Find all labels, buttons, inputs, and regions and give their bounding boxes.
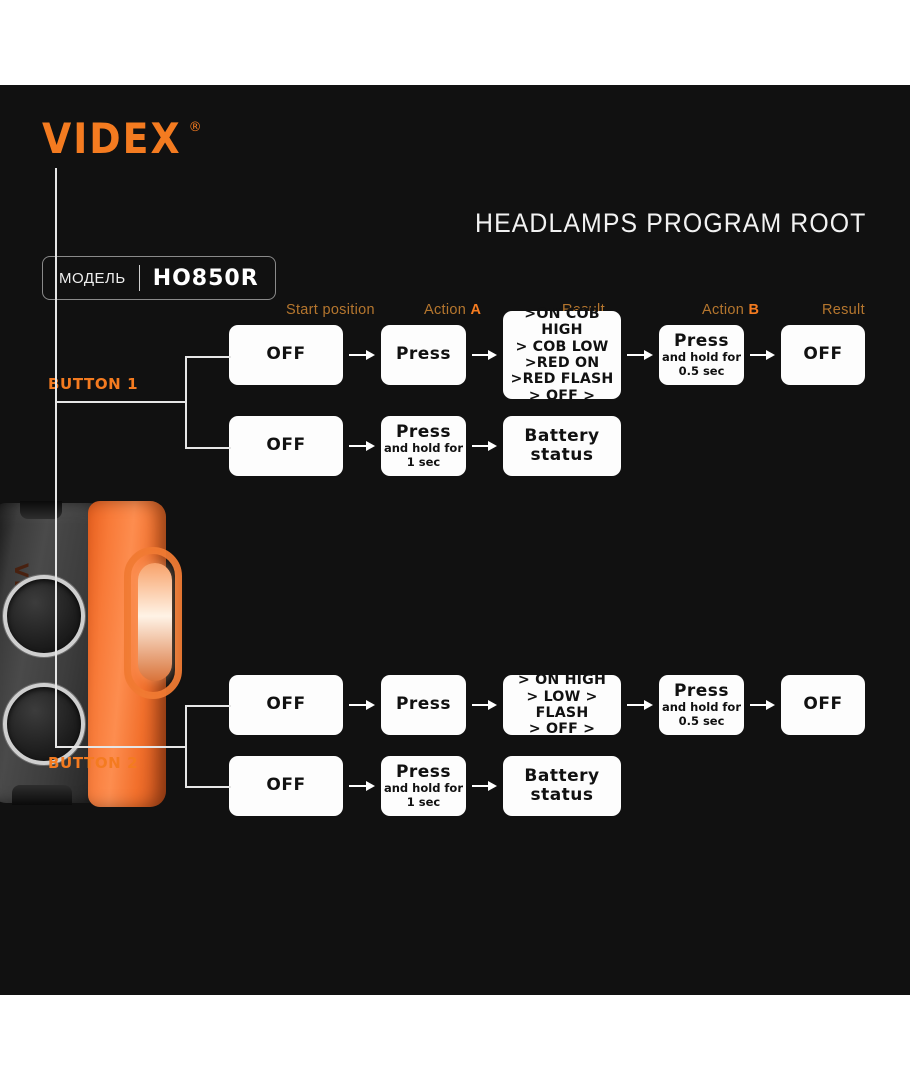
arrow-shaft — [750, 354, 767, 356]
bracket-spine-0 — [185, 356, 187, 447]
flow-arrow — [472, 699, 497, 711]
flow-node-text: Press — [396, 695, 451, 714]
flow-node: Press — [381, 675, 466, 735]
arrow-shaft — [627, 704, 645, 706]
program-flow-diagram: Start positionAction AResultAction BResu… — [0, 85, 910, 995]
flow-arrow — [472, 349, 497, 361]
flow-arrow — [627, 699, 653, 711]
bracket-stub-top-1 — [185, 705, 231, 707]
flow-node-line: Press — [384, 763, 463, 782]
arrow-head-icon — [366, 781, 375, 791]
bracket-stub-bottom-0 — [185, 447, 231, 449]
arrow-shaft — [349, 445, 367, 447]
flow-node-text: > ON HIGH> LOW > FLASH> OFF > — [503, 672, 621, 738]
arrow-head-icon — [766, 700, 775, 710]
flow-node-line: OFF — [803, 694, 842, 714]
group-label-button-2: BUTTON 2 — [48, 754, 138, 772]
flow-arrow — [349, 780, 375, 792]
flow-node-line: Press — [396, 344, 451, 364]
bracket-trunk-0 — [55, 401, 185, 403]
flow-node-text: Pressand hold for1 sec — [384, 763, 463, 809]
flow-node: > ON HIGH> LOW > FLASH> OFF > — [503, 675, 621, 735]
flow-node-line: and hold for — [384, 442, 463, 456]
flow-node-text: Pressand hold for0.5 sec — [662, 332, 741, 378]
flow-node-line: status — [530, 445, 593, 465]
flow-node: OFF — [229, 756, 343, 816]
flow-node: Pressand hold for1 sec — [381, 756, 466, 816]
arrow-head-icon — [644, 350, 653, 360]
arrow-head-icon — [366, 700, 375, 710]
arrow-shaft — [472, 354, 489, 356]
column-label-text: Start position — [286, 302, 375, 318]
arrow-shaft — [472, 445, 489, 447]
flow-node: OFF — [229, 416, 343, 476]
flow-node-line: OFF — [803, 344, 842, 364]
flow-node-line: Press — [384, 423, 463, 442]
arrow-shaft — [472, 785, 489, 787]
column-label-emphasis: B — [748, 302, 759, 318]
flow-node-text: OFF — [803, 695, 842, 714]
flow-arrow — [750, 699, 775, 711]
flow-node-line: OFF — [266, 435, 305, 455]
flow-node: OFF — [781, 325, 865, 385]
flow-arrow — [472, 780, 497, 792]
arrow-head-icon — [488, 350, 497, 360]
flow-node-line: Press — [396, 694, 451, 714]
flow-arrow — [472, 440, 497, 452]
flow-node-line: OFF — [266, 775, 305, 795]
flow-node-line: OFF — [266, 694, 305, 714]
flow-node-text: OFF — [266, 436, 305, 455]
flow-node-line: > OFF > — [529, 721, 596, 737]
arrow-head-icon — [488, 700, 497, 710]
flow-node: Press — [381, 325, 466, 385]
flow-node: Batterystatus — [503, 416, 621, 476]
flow-node-text: Pressand hold for1 sec — [384, 423, 463, 469]
flow-node: OFF — [229, 675, 343, 735]
flow-node: Pressand hold for0.5 sec — [659, 325, 744, 385]
flow-node-text: Press — [396, 345, 451, 364]
flow-node-line: >RED ON — [525, 355, 600, 371]
flow-node-line: status — [530, 785, 593, 805]
flow-node-text: Batterystatus — [524, 427, 599, 465]
arrow-shaft — [349, 354, 367, 356]
column-label-text: Result — [822, 302, 865, 318]
arrow-shaft — [349, 785, 367, 787]
flow-node-line: 1 sec — [384, 796, 463, 810]
flow-node-line: OFF — [266, 344, 305, 364]
flow-node-text: OFF — [266, 776, 305, 795]
column-label-text: Action — [424, 302, 470, 318]
flow-node-line: Press — [662, 682, 741, 701]
arrow-head-icon — [366, 441, 375, 451]
leader-button-2 — [55, 341, 57, 746]
flow-node-line: >RED FLASH — [510, 371, 613, 387]
flow-node-text: OFF — [803, 345, 842, 364]
bracket-stub-bottom-1 — [185, 786, 231, 788]
arrow-head-icon — [488, 441, 497, 451]
bracket-stub-top-0 — [185, 356, 231, 358]
arrow-shaft — [349, 704, 367, 706]
column-label-emphasis: A — [470, 302, 481, 318]
flow-node-text: Pressand hold for0.5 sec — [662, 682, 741, 728]
flow-node-text: >ON COB HIGH> COB LOW>RED ON>RED FLASH> … — [503, 306, 621, 405]
arrow-head-icon — [366, 350, 375, 360]
flow-node-text: OFF — [266, 695, 305, 714]
arrow-head-icon — [644, 700, 653, 710]
flow-node-line: 0.5 sec — [662, 715, 741, 729]
column-label-text: Action — [702, 302, 748, 318]
bracket-spine-1 — [185, 705, 187, 786]
flow-node: OFF — [229, 325, 343, 385]
flow-node-line: > LOW > FLASH — [526, 689, 597, 721]
flow-arrow — [750, 349, 775, 361]
poster-page: VIDEX ® МОДЕЛЬ HO850R HEADLAMPS PROGRAM … — [0, 0, 910, 1080]
flow-arrow — [349, 349, 375, 361]
flow-node-line: Battery — [524, 766, 599, 786]
flow-node-line: Battery — [524, 426, 599, 446]
flow-node-line: > OFF > — [529, 388, 596, 404]
flow-node-line: > COB LOW — [515, 339, 608, 355]
arrow-shaft — [750, 704, 767, 706]
flow-node: Pressand hold for1 sec — [381, 416, 466, 476]
flow-arrow — [349, 440, 375, 452]
flow-node-text: OFF — [266, 345, 305, 364]
arrow-shaft — [627, 354, 645, 356]
flow-arrow — [627, 349, 653, 361]
arrow-head-icon — [766, 350, 775, 360]
flow-node-text: Batterystatus — [524, 767, 599, 805]
flow-node: OFF — [781, 675, 865, 735]
flow-node-line: 0.5 sec — [662, 365, 741, 379]
group-label-button-1: BUTTON 1 — [48, 375, 138, 393]
flow-node-line: and hold for — [662, 701, 741, 715]
flow-node-line: Press — [662, 332, 741, 351]
arrow-head-icon — [488, 781, 497, 791]
bracket-trunk-1 — [55, 746, 185, 748]
flow-node-line: >ON COB HIGH — [524, 306, 599, 338]
flow-node: >ON COB HIGH> COB LOW>RED ON>RED FLASH> … — [503, 311, 621, 399]
arrow-shaft — [472, 704, 489, 706]
flow-arrow — [349, 699, 375, 711]
flow-node-line: 1 sec — [384, 456, 463, 470]
flow-node-line: and hold for — [662, 351, 741, 365]
flow-node: Batterystatus — [503, 756, 621, 816]
flow-node-line: > ON HIGH — [518, 672, 606, 688]
dark-panel: VIDEX ® МОДЕЛЬ HO850R HEADLAMPS PROGRAM … — [0, 85, 910, 995]
flow-node-line: and hold for — [384, 782, 463, 796]
flow-node: Pressand hold for0.5 sec — [659, 675, 744, 735]
